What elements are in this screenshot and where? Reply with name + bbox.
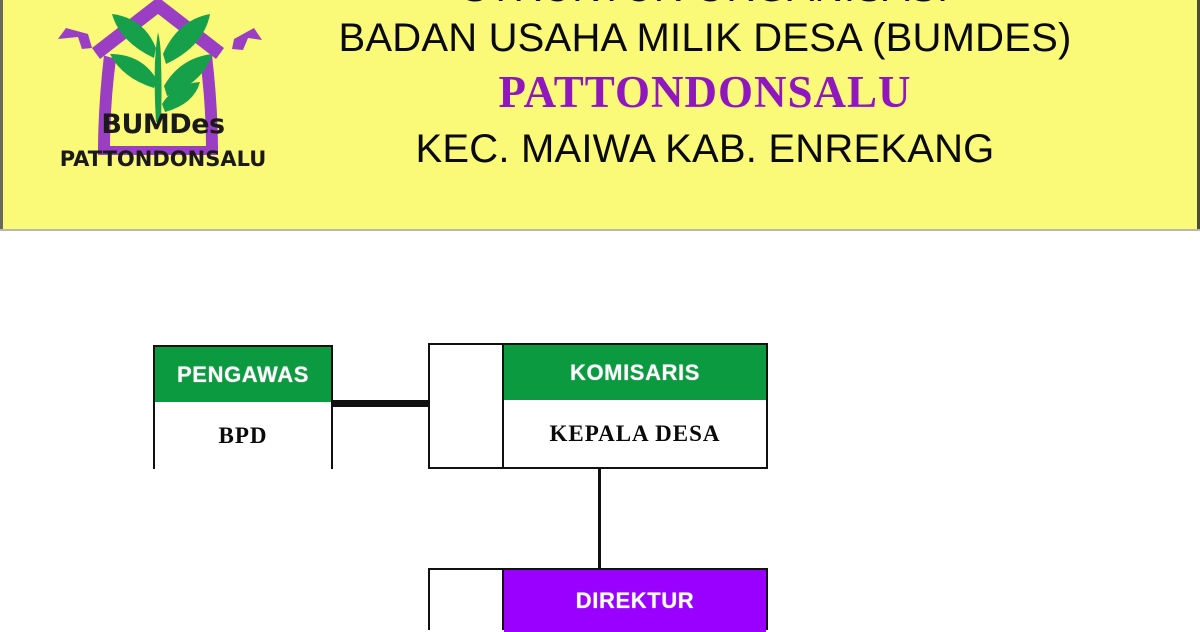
- node-komisaris[interactable]: KOMISARIS KEPALA DESA: [502, 343, 768, 469]
- connector-komisaris-direktur: [598, 467, 601, 570]
- banner-title-block: STRUKTUR ORGANISASI BADAN USAHA MILIK DE…: [290, 0, 1120, 169]
- node-spacer-top-holder: [430, 400, 502, 467]
- node-komisaris-holder: KEPALA DESA: [504, 400, 766, 467]
- node-spacer-bottom-role: [430, 570, 502, 632]
- node-pengawas-role: PENGAWAS: [155, 347, 331, 402]
- logo-subtitle-text: PATTONDONSALU: [48, 147, 278, 171]
- node-spacer-bottom[interactable]: [428, 568, 504, 630]
- node-pengawas-holder: BPD: [155, 402, 331, 469]
- logo-brand-text: BUMDes: [48, 109, 278, 140]
- bumdes-logo: BUMDes PATTONDONSALU: [48, 0, 278, 192]
- title-line-struktur-organisasi: STRUKTUR ORGANISASI: [290, 0, 1120, 8]
- node-direktur[interactable]: DIREKTUR: [502, 568, 768, 630]
- title-line-badan-usaha: BADAN USAHA MILIK DESA (BUMDES): [290, 18, 1120, 58]
- connector-pengawas-komisaris: [331, 400, 431, 407]
- header-banner: BUMDes PATTONDONSALU STRUKTUR ORGANISASI…: [0, 0, 1200, 231]
- node-spacer-top[interactable]: [428, 343, 504, 469]
- node-pengawas[interactable]: PENGAWAS BPD: [153, 345, 333, 469]
- title-line-pattondonsalu: PATTONDONSALU: [290, 70, 1120, 115]
- node-spacer-top-role: [430, 345, 502, 400]
- title-line-kecamatan: KEC. MAIWA KAB. ENREKANG: [290, 129, 1120, 169]
- org-chart: PENGAWAS BPD KOMISARIS KEPALA DESA DIREK…: [0, 231, 1200, 630]
- node-direktur-role: DIREKTUR: [504, 570, 766, 632]
- node-komisaris-role: KOMISARIS: [504, 345, 766, 400]
